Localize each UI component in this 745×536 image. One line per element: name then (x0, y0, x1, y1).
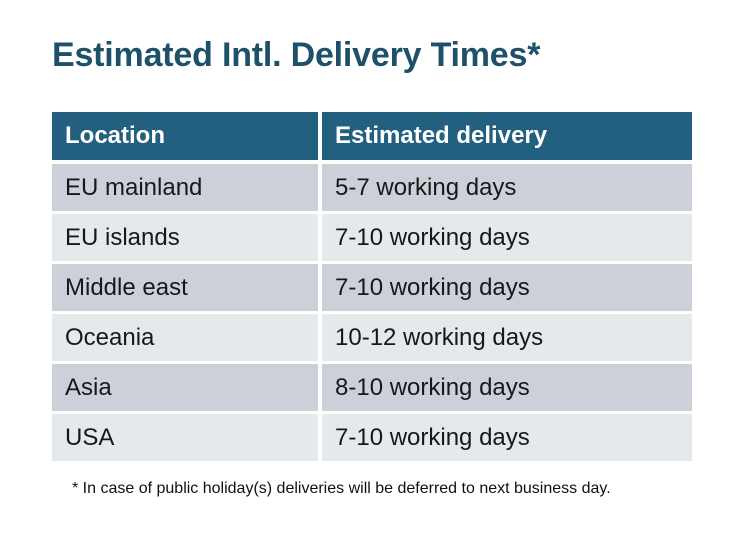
cell-estimated-delivery: 10-12 working days (322, 314, 692, 361)
table-row: EU mainland 5-7 working days (52, 164, 692, 211)
cell-estimated-delivery: 7-10 working days (322, 414, 692, 461)
column-header-location: Location (52, 112, 318, 160)
table-row: EU islands 7-10 working days (52, 214, 692, 261)
column-header-estimated-delivery: Estimated delivery (322, 112, 692, 160)
cell-location: USA (52, 414, 318, 461)
cell-estimated-delivery: 8-10 working days (322, 364, 692, 411)
footnote: * In case of public holiday(s) deliverie… (72, 480, 611, 498)
table-row: Oceania 10-12 working days (52, 314, 692, 361)
page-title: Estimated Intl. Delivery Times* (52, 36, 540, 75)
cell-estimated-delivery: 7-10 working days (322, 264, 692, 311)
cell-location: Asia (52, 364, 318, 411)
table-row: Middle east 7-10 working days (52, 264, 692, 311)
cell-estimated-delivery: 7-10 working days (322, 214, 692, 261)
cell-location: Middle east (52, 264, 318, 311)
table-header-row: Location Estimated delivery (52, 112, 692, 160)
cell-location: Oceania (52, 314, 318, 361)
cell-estimated-delivery: 5-7 working days (322, 164, 692, 211)
table-row: Asia 8-10 working days (52, 364, 692, 411)
delivery-times-table: Location Estimated delivery EU mainland … (52, 112, 692, 464)
table-row: USA 7-10 working days (52, 414, 692, 461)
delivery-times-page: Estimated Intl. Delivery Times* Location… (0, 0, 745, 536)
cell-location: EU islands (52, 214, 318, 261)
cell-location: EU mainland (52, 164, 318, 211)
